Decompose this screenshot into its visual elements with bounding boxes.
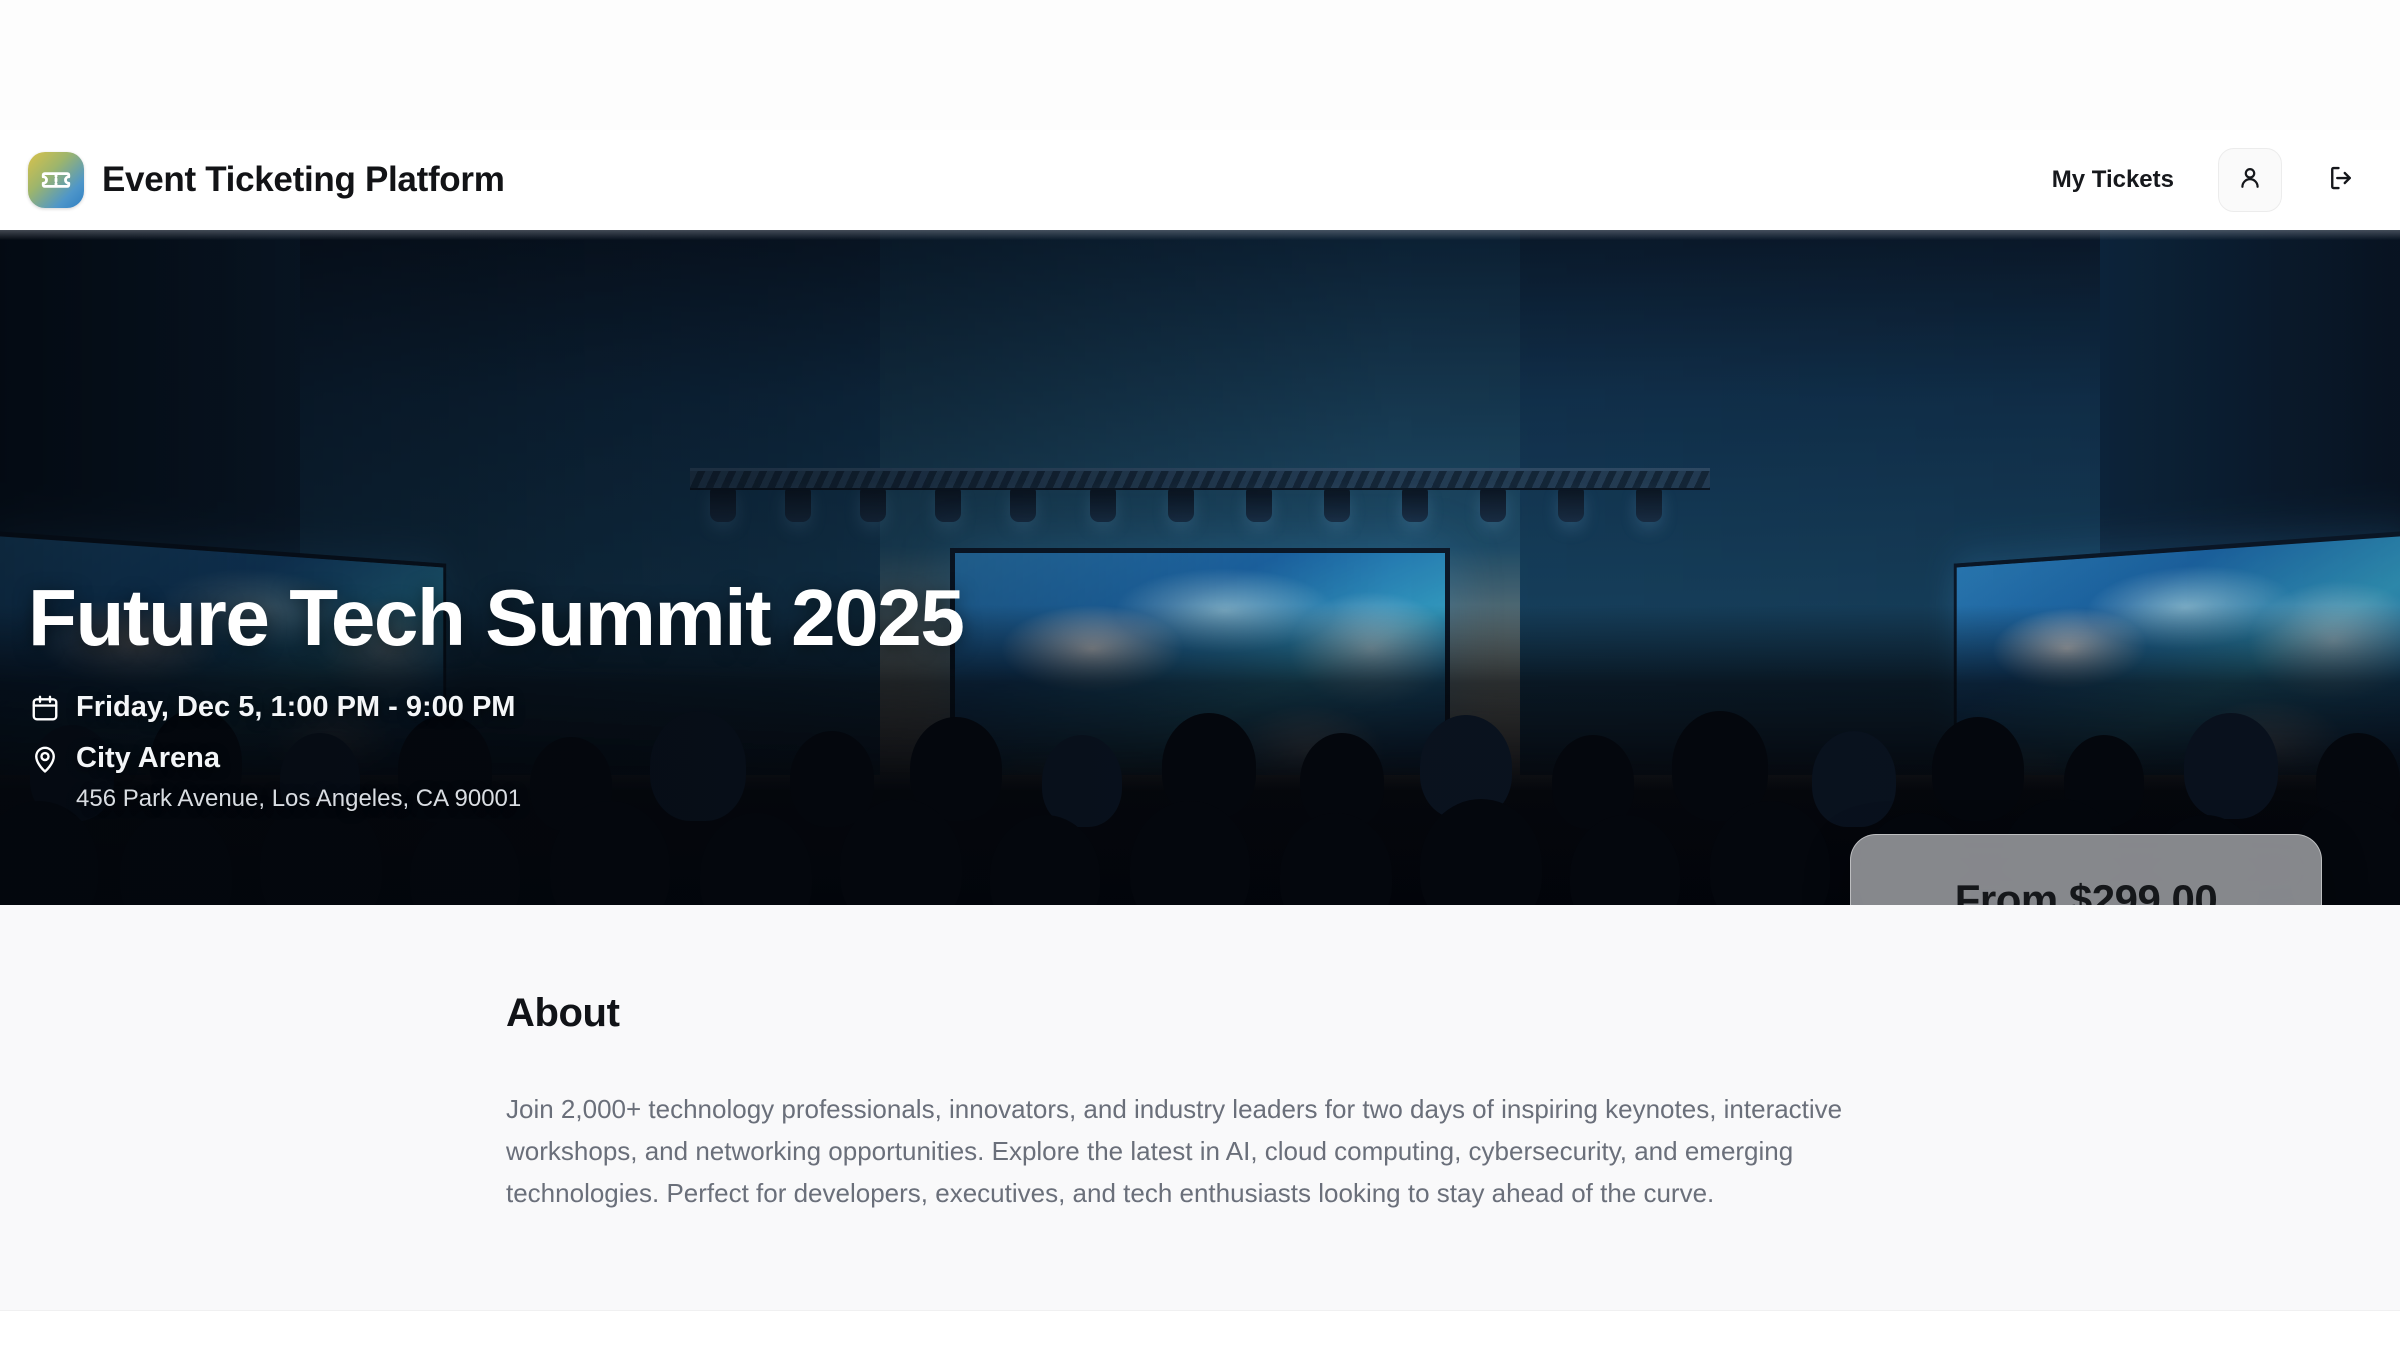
page-root: Event Ticketing Platform My Tickets [0, 0, 2400, 1350]
logout-button[interactable] [2310, 149, 2372, 211]
map-pin-icon [28, 744, 62, 774]
about-section: About Join 2,000+ technology professiona… [0, 905, 2400, 1311]
page-footer-space [0, 1311, 2400, 1350]
ticket-price-card: From $299.00 Get Tickets [1850, 834, 2322, 905]
app-header: Event Ticketing Platform My Tickets [0, 130, 2400, 230]
event-datetime-row: Friday, Dec 5, 1:00 PM - 9:00 PM [28, 691, 963, 724]
event-datetime: Friday, Dec 5, 1:00 PM - 9:00 PM [76, 691, 515, 724]
event-address: 456 Park Avenue, Los Angeles, CA 90001 [76, 785, 963, 813]
about-heading: About [506, 991, 1894, 1036]
account-button[interactable] [2218, 148, 2282, 212]
event-hero: Future Tech Summit 2025 Friday, Dec 5, 1… [0, 230, 2400, 905]
about-description: Join 2,000+ technology professionals, in… [506, 1088, 1894, 1214]
about-inner: About Join 2,000+ technology professiona… [480, 991, 1920, 1214]
calendar-icon [28, 693, 62, 723]
brand-title: Event Ticketing Platform [102, 160, 505, 200]
logout-icon [2326, 163, 2356, 198]
price-from-label: From $299.00 [1955, 876, 2218, 905]
event-venue-row: City Arena [28, 742, 963, 775]
event-venue: City Arena [76, 742, 220, 775]
ticket-icon [28, 152, 84, 208]
event-title: Future Tech Summit 2025 [28, 577, 963, 659]
hero-content: Future Tech Summit 2025 Friday, Dec 5, 1… [28, 577, 963, 813]
user-icon [2236, 164, 2264, 197]
top-white-strip [0, 0, 2400, 130]
header-actions: My Tickets [2036, 148, 2372, 212]
brand[interactable]: Event Ticketing Platform [28, 152, 505, 208]
nav-my-tickets[interactable]: My Tickets [2036, 156, 2190, 204]
